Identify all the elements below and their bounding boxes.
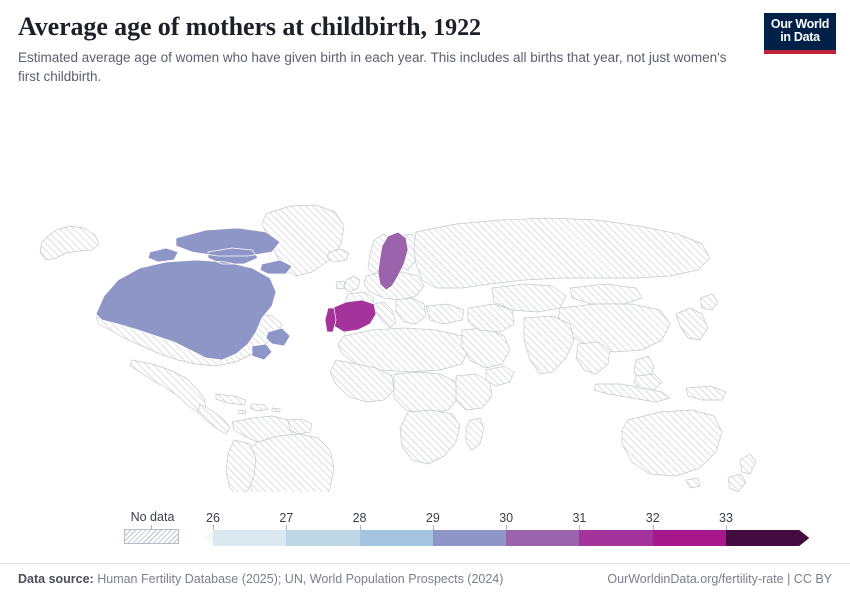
country-korea-japan [676, 308, 708, 340]
legend-no-data-swatch[interactable] [124, 529, 179, 544]
country-alaska [40, 226, 99, 260]
attribution-link[interactable]: OurWorldinData.org/fertility-rate | CC B… [607, 572, 832, 586]
country-jamaica [238, 410, 246, 414]
country-turkey [426, 304, 464, 324]
legend-bin[interactable] [726, 530, 809, 546]
legend-bin[interactable] [433, 530, 506, 546]
chart-footer: Data source: Human Fertility Database (2… [0, 563, 850, 589]
legend-bin[interactable] [286, 530, 359, 546]
country-india [524, 316, 574, 374]
owid-logo-line2: in Data [780, 31, 820, 45]
legend-no-data-tick [151, 525, 152, 530]
country-arabia [462, 328, 510, 368]
legend-tick-label: 31 [572, 512, 586, 525]
legend-tick-mark [579, 525, 580, 530]
legend-tick-label: 27 [279, 512, 293, 525]
legend-tick-mark [726, 525, 727, 530]
country-mexico [130, 360, 206, 412]
legend-tick-mark [433, 525, 434, 530]
country-central-america [198, 404, 230, 434]
country-balkans-greece [396, 298, 426, 324]
world-map-svg[interactable] [0, 92, 850, 492]
country-australia [622, 410, 722, 476]
country-tasmania [686, 478, 700, 488]
country-new-zealand-south [728, 474, 746, 492]
country-brazil [246, 434, 334, 492]
chart-header: Average age of mothers at childbirth, 19… [18, 12, 748, 87]
legend-tick-mark [360, 525, 361, 530]
country-cuba [216, 394, 246, 405]
owid-logo[interactable]: Our World in Data [764, 13, 836, 54]
page-title: Average age of mothers at childbirth, 19… [18, 12, 748, 42]
legend-no-data-label: No data [124, 511, 181, 524]
legend-no-data[interactable]: No data [124, 511, 181, 544]
data-source: Data source: Human Fertility Database (2… [18, 572, 503, 586]
legend-tick-mark [286, 525, 287, 530]
country-japan-north [700, 294, 718, 310]
country-southern-africa [400, 410, 460, 464]
country-mongolia [570, 284, 642, 304]
title-text: Average age of mothers at childbirth, [18, 12, 427, 41]
legend-bin[interactable] [579, 530, 652, 546]
legend-gradient-bar[interactable] [203, 530, 736, 546]
country-madagascar [466, 418, 484, 450]
country-italy [374, 302, 396, 328]
legend-tick-label: 32 [646, 512, 660, 525]
world-map[interactable] [0, 92, 850, 492]
country-sumatra-java [594, 384, 670, 402]
legend-tick-label: 29 [426, 512, 440, 525]
owid-logo-line1: Our World [771, 18, 829, 32]
legend-bin[interactable] [213, 530, 286, 546]
legend-tick-label: 30 [499, 512, 513, 525]
country-portugal [325, 308, 336, 332]
legend-tick-mark [213, 525, 214, 530]
legend-tick-label: 28 [353, 512, 367, 525]
chart-subtitle: Estimated average age of women who have … [18, 49, 733, 86]
title-year: 1922 [433, 15, 481, 41]
country-china [558, 304, 670, 352]
data-source-label: Data source: [18, 572, 94, 586]
country-russia [414, 218, 710, 288]
country-central-africa [394, 372, 458, 414]
legend-bin[interactable] [653, 530, 726, 546]
country-new-zealand [740, 454, 756, 474]
map-legend[interactable]: No data 2627282930313233 [0, 500, 850, 556]
legend-bin[interactable] [506, 530, 579, 546]
country-southeast-asia [576, 342, 610, 374]
legend-tick-mark [653, 525, 654, 530]
country-ireland [336, 281, 345, 289]
legend-tick-label: 33 [719, 512, 733, 525]
country-hispaniola [250, 404, 268, 411]
legend-bin[interactable] [360, 530, 433, 546]
legend-color-scale[interactable]: 2627282930313233 [203, 513, 736, 551]
owid-map-chart: Average age of mothers at childbirth, 19… [0, 0, 850, 600]
legend-tick-label: 26 [206, 512, 220, 525]
legend-tick-mark [506, 525, 507, 530]
country-new-guinea [686, 386, 726, 400]
country-uk [344, 276, 360, 292]
data-source-text: Human Fertility Database (2025); UN, Wor… [97, 572, 503, 586]
country-puerto-rico [272, 408, 280, 412]
